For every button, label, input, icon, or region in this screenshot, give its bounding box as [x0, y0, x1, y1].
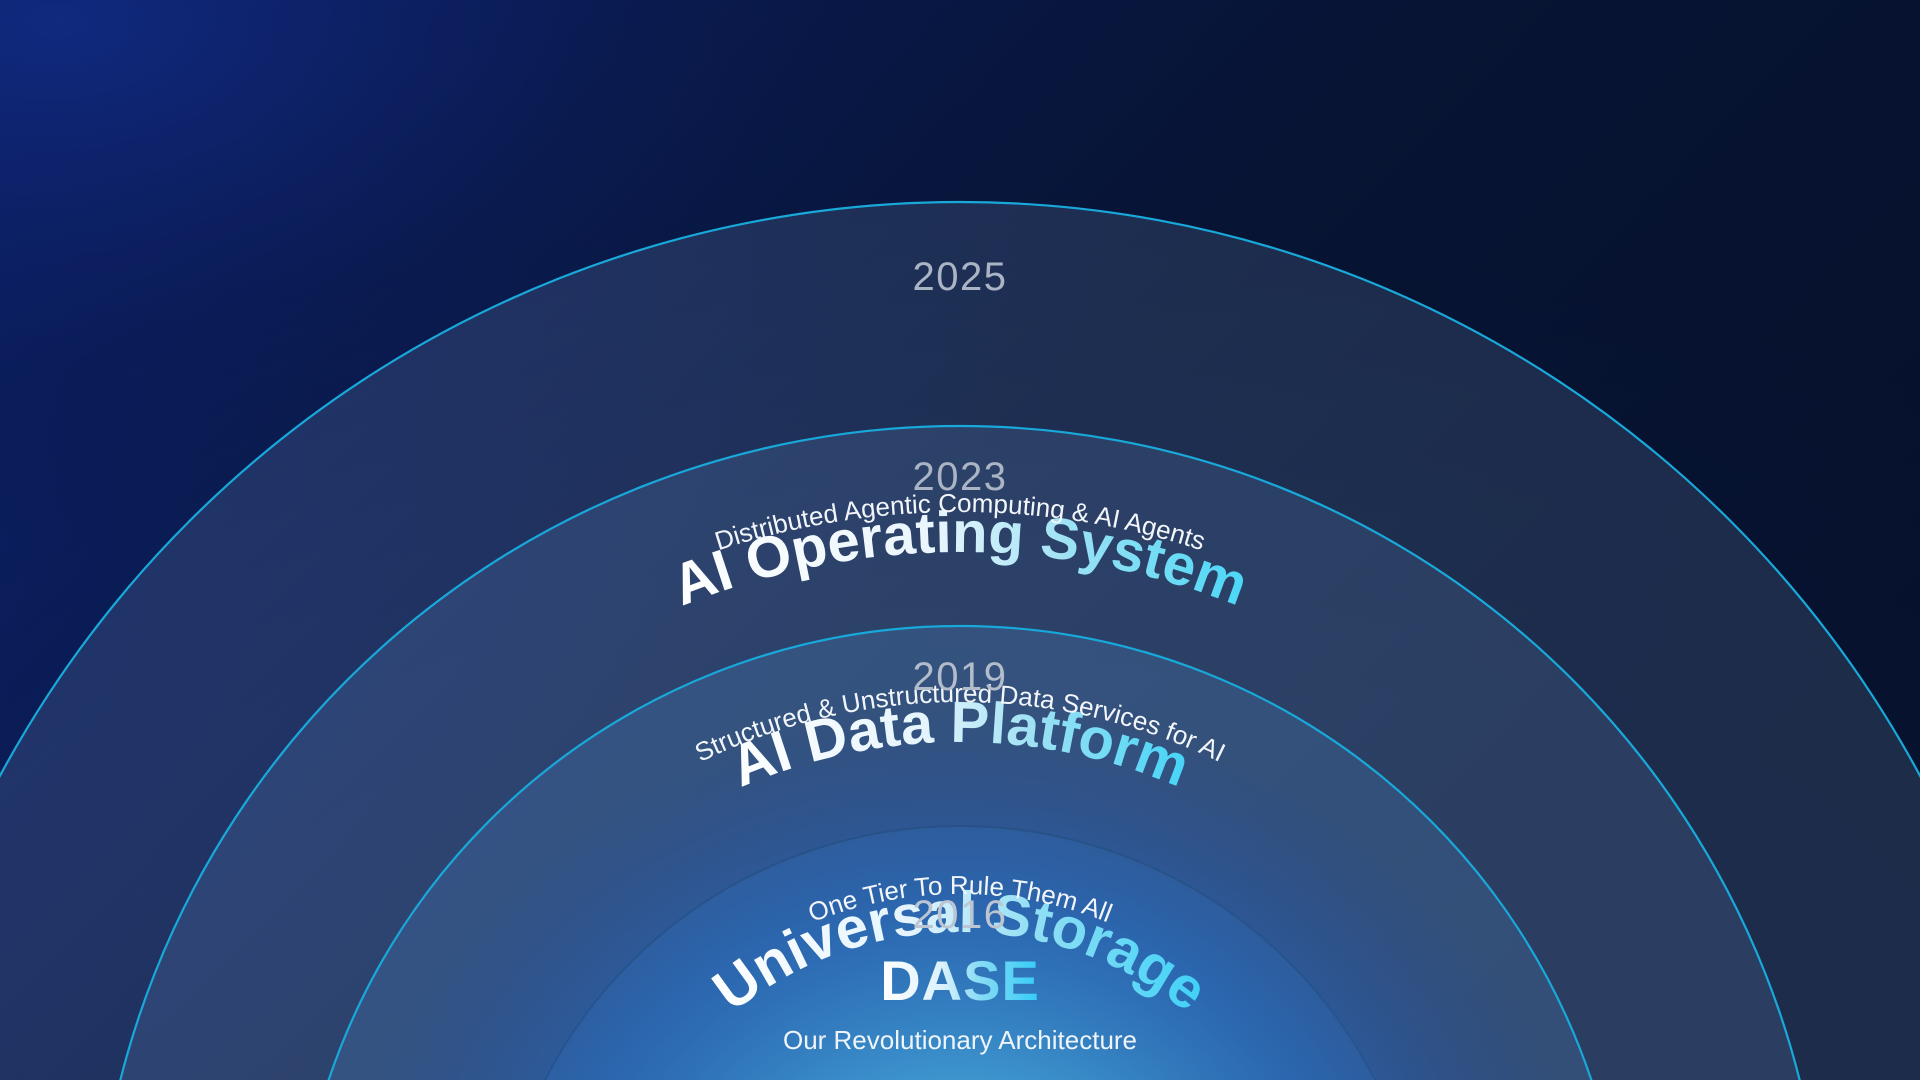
ring-2016-subtitle: Our Revolutionary Architecture — [783, 1025, 1137, 1055]
ring-2019-year: 2019 — [913, 655, 1008, 699]
ring-2016-year: 2016 — [913, 893, 1008, 937]
ring-2023-year: 2023 — [913, 455, 1008, 499]
ring-2025-year: 2025 — [913, 255, 1008, 299]
evolution-timeline-graphic: 2025 AI Operating System Distributed Age… — [0, 0, 1920, 1080]
ring-2016-title: DASE — [880, 949, 1040, 1012]
rings-layer: 2025 AI Operating System Distributed Age… — [0, 0, 1920, 1080]
